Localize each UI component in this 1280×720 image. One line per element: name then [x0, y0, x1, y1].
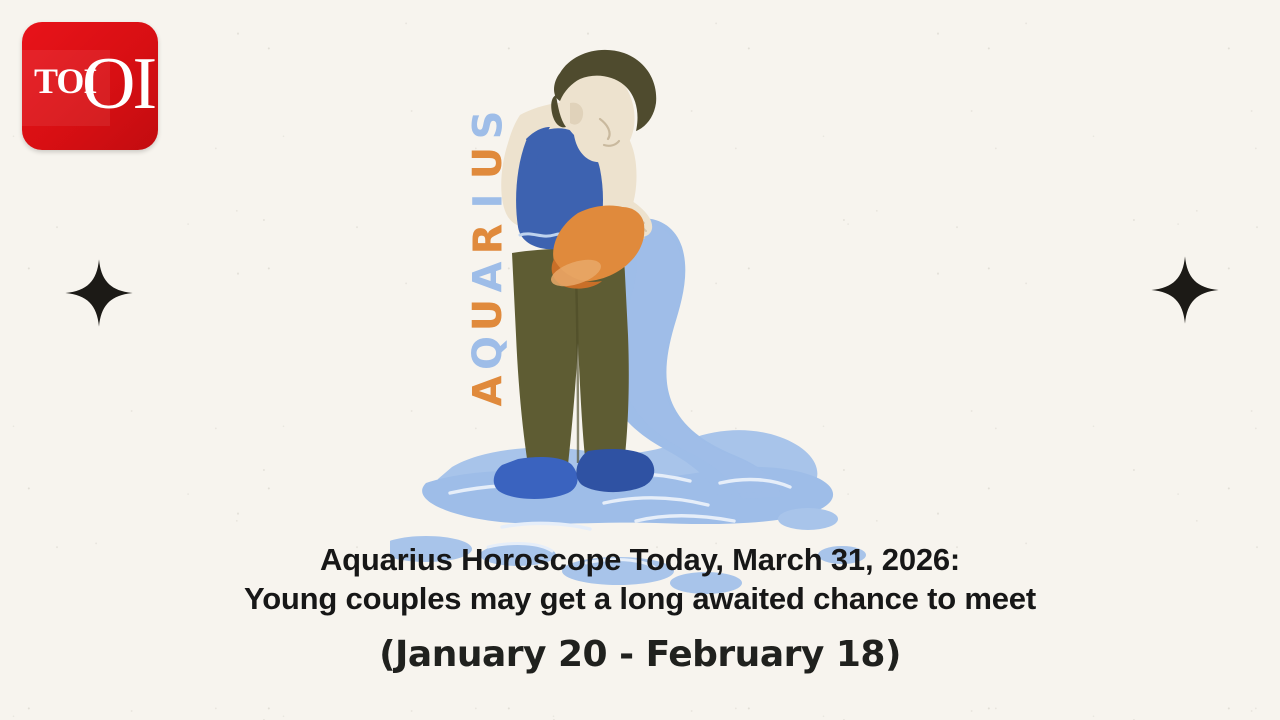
aquarius-letter-4: R [469, 224, 507, 255]
aquarius-letter-2: U [469, 299, 507, 331]
four-point-star-icon [1150, 255, 1220, 325]
aquarius-letter-5: I [469, 194, 507, 209]
aquarius-letter-1: Q [469, 336, 507, 370]
image-canvas: TOI OI [0, 0, 1280, 720]
aquarius-letter-3: A [469, 262, 507, 293]
zodiac-date-range: (January 20 - February 18) [0, 637, 1280, 673]
aquarius-letter-7: S [469, 111, 507, 140]
headline-line-1: Aquarius Horoscope Today, March 31, 2026… [0, 540, 1280, 579]
logo-text-oi: OI [82, 47, 154, 121]
four-point-star-icon [64, 258, 134, 328]
headline: Aquarius Horoscope Today, March 31, 2026… [0, 540, 1280, 619]
headline-line-2: Young couples may get a long awaited cha… [0, 579, 1280, 618]
aquarius-vertical-word: A Q U A R I U S [460, 100, 516, 410]
aquarius-letter-0: A [469, 376, 507, 407]
caption-block: Aquarius Horoscope Today, March 31, 2026… [0, 540, 1280, 673]
toi-logo[interactable]: TOI OI [22, 22, 158, 150]
aquarius-letter-6: U [469, 147, 507, 179]
